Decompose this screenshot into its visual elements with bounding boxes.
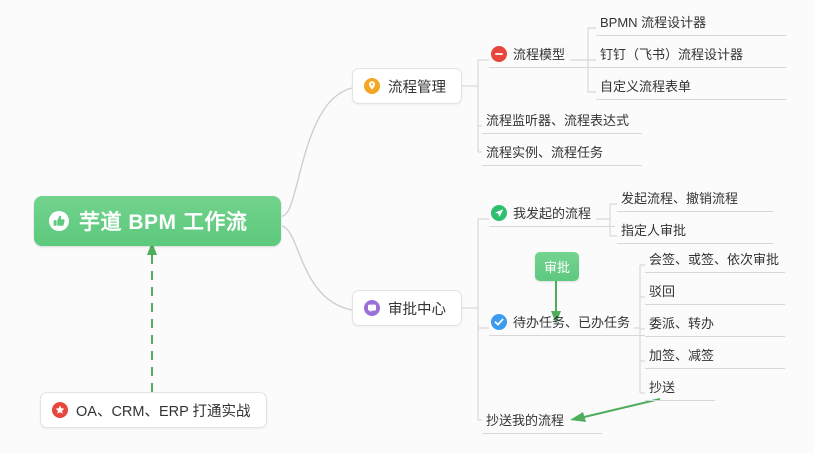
leaf-dingtalk-designer[interactable]: 钉钉（飞书）流程设计器	[596, 42, 786, 68]
footnote-node[interactable]: OA、CRM、ERP 打通实战	[40, 392, 267, 428]
minus-circle-icon	[491, 46, 507, 62]
leaf-bpmn-designer-label: BPMN 流程设计器	[600, 12, 706, 31]
leaf-countersign[interactable]: 会签、或签、依次审批	[645, 247, 785, 273]
thumbs-up-icon	[48, 210, 70, 232]
leaf-cc-to-me[interactable]: 抄送我的流程	[482, 408, 602, 434]
leaf-cc[interactable]: 抄送	[645, 375, 715, 401]
branch-flow-management-label: 流程管理	[388, 76, 446, 97]
approve-tag[interactable]: 审批	[535, 252, 579, 281]
leaf-add-remove-sign-label: 加签、减签	[649, 345, 714, 364]
leaf-flow-model[interactable]: 流程模型	[489, 42, 597, 68]
leaf-dingtalk-designer-label: 钉钉（飞书）流程设计器	[600, 44, 743, 63]
leaf-delegate-transfer-label: 委派、转办	[649, 313, 714, 332]
leaf-custom-form-label: 自定义流程表单	[600, 76, 691, 95]
send-circle-icon	[491, 205, 507, 221]
root-node[interactable]: 芋道 BPM 工作流	[34, 196, 281, 246]
branch-approval-center[interactable]: 审批中心	[352, 290, 462, 326]
leaf-flow-model-label: 流程模型	[513, 44, 565, 63]
leaf-todo-done-tasks-label: 待办任务、已办任务	[513, 312, 630, 331]
branch-approval-center-label: 审批中心	[388, 298, 446, 319]
leaf-delegate-transfer[interactable]: 委派、转办	[645, 311, 785, 337]
leaf-start-cancel-flow-label: 发起流程、撤销流程	[621, 188, 738, 207]
leaf-cc-label: 抄送	[649, 377, 675, 396]
branch-flow-management[interactable]: 流程管理	[352, 68, 462, 104]
leaf-countersign-label: 会签、或签、依次审批	[649, 249, 779, 268]
star-circle-icon	[52, 402, 68, 418]
leaf-my-started-flows-label: 我发起的流程	[513, 203, 591, 222]
check-circle-icon	[491, 314, 507, 330]
leaf-reject-label: 驳回	[649, 281, 675, 300]
approve-tag-label: 审批	[544, 260, 570, 275]
leaf-flow-listener-label: 流程监听器、流程表达式	[486, 110, 629, 129]
leaf-assign-approver[interactable]: 指定人审批	[617, 218, 773, 244]
root-label: 芋道 BPM 工作流	[79, 206, 247, 236]
leaf-flow-instance[interactable]: 流程实例、流程任务	[482, 140, 642, 166]
leaf-flow-listener[interactable]: 流程监听器、流程表达式	[482, 108, 642, 134]
leaf-my-started-flows[interactable]: 我发起的流程	[489, 201, 615, 227]
leaf-assign-approver-label: 指定人审批	[621, 220, 686, 239]
location-pin-icon	[364, 78, 380, 94]
leaf-bpmn-designer[interactable]: BPMN 流程设计器	[596, 10, 786, 36]
leaf-start-cancel-flow[interactable]: 发起流程、撤销流程	[617, 186, 773, 212]
chat-square-icon	[364, 300, 380, 316]
footnote-label: OA、CRM、ERP 打通实战	[76, 400, 251, 421]
leaf-custom-form[interactable]: 自定义流程表单	[596, 74, 786, 100]
leaf-flow-instance-label: 流程实例、流程任务	[486, 142, 603, 161]
leaf-todo-done-tasks[interactable]: 待办任务、已办任务	[489, 310, 645, 336]
leaf-reject[interactable]: 驳回	[645, 279, 785, 305]
leaf-cc-to-me-label: 抄送我的流程	[486, 410, 564, 429]
mindmap-canvas: 芋道 BPM 工作流 流程管理 流程模型 BPMN 流程设计器 钉钉（飞书）流程…	[0, 0, 814, 453]
leaf-add-remove-sign[interactable]: 加签、减签	[645, 343, 785, 369]
